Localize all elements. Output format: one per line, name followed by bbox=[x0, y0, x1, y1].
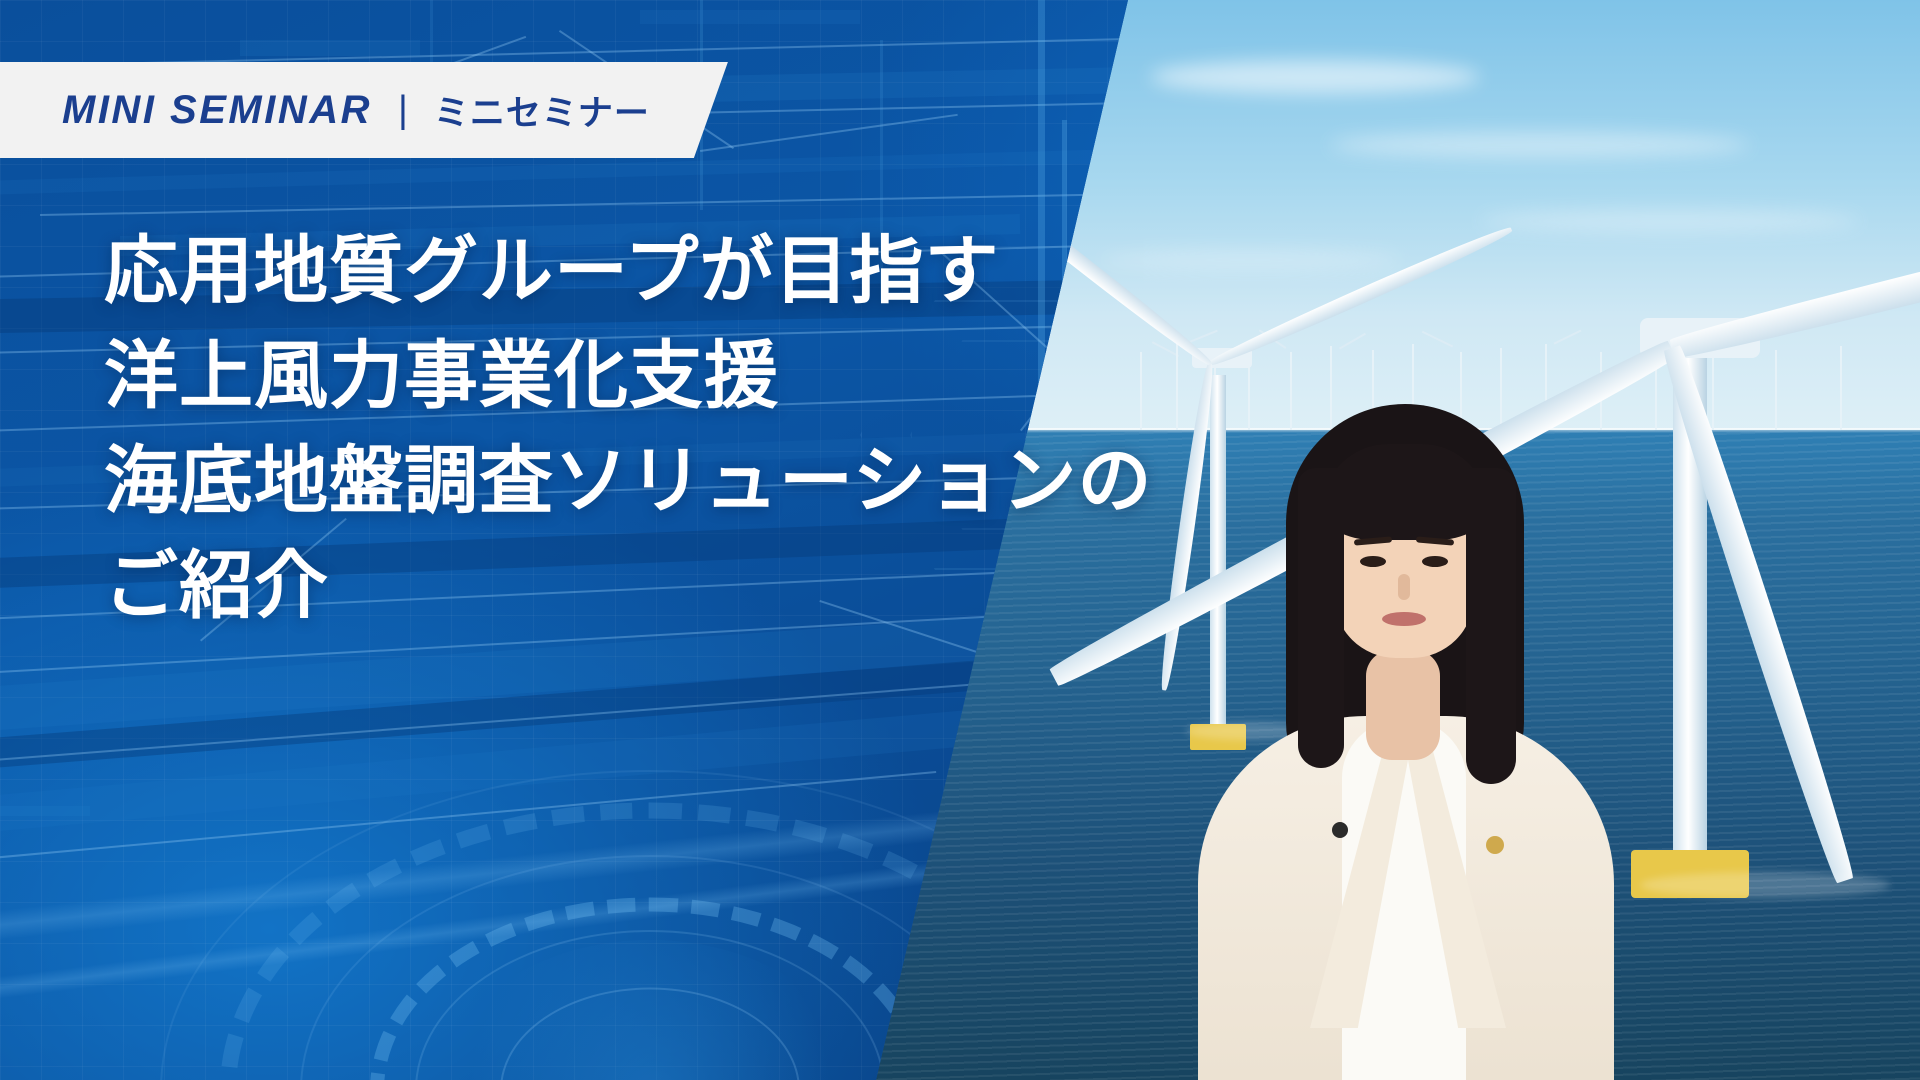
badge-japanese-label: ミニセミナー bbox=[434, 85, 650, 136]
nose bbox=[1398, 574, 1410, 600]
title-line-3: 海底地盤調査ソリューションの bbox=[104, 428, 1153, 533]
cloud bbox=[1150, 60, 1480, 94]
badge-separator: | bbox=[398, 91, 408, 129]
cloud bbox=[1330, 132, 1750, 158]
cloud bbox=[1480, 210, 1860, 232]
lapel-pin-icon bbox=[1486, 836, 1504, 854]
title-line-2: 洋上風力事業化支援 bbox=[104, 323, 1153, 428]
eye-right bbox=[1422, 556, 1448, 567]
hair-side-right bbox=[1466, 468, 1516, 784]
lapel-microphone-icon bbox=[1332, 822, 1348, 838]
seminar-title: 応用地質グループが目指す 洋上風力事業化支援 海底地盤調査ソリューションの ご紹… bbox=[104, 218, 1153, 638]
hair-side-left bbox=[1298, 468, 1344, 768]
title-line-1: 応用地質グループが目指す bbox=[104, 218, 1153, 323]
mini-seminar-badge: MINI SEMINAR | ミニセミナー bbox=[0, 62, 728, 158]
seminar-banner: MINI SEMINAR | ミニセミナー 応用地質グループが目指す 洋上風力事… bbox=[0, 0, 1920, 1080]
title-line-4: ご紹介 bbox=[104, 533, 1153, 638]
eye-left bbox=[1360, 556, 1386, 567]
neck bbox=[1366, 650, 1440, 760]
hair-fringe bbox=[1322, 444, 1488, 540]
badge-english-label: MINI SEMINAR bbox=[62, 88, 372, 133]
presenter-figure bbox=[1190, 398, 1610, 1080]
lips bbox=[1382, 612, 1426, 626]
